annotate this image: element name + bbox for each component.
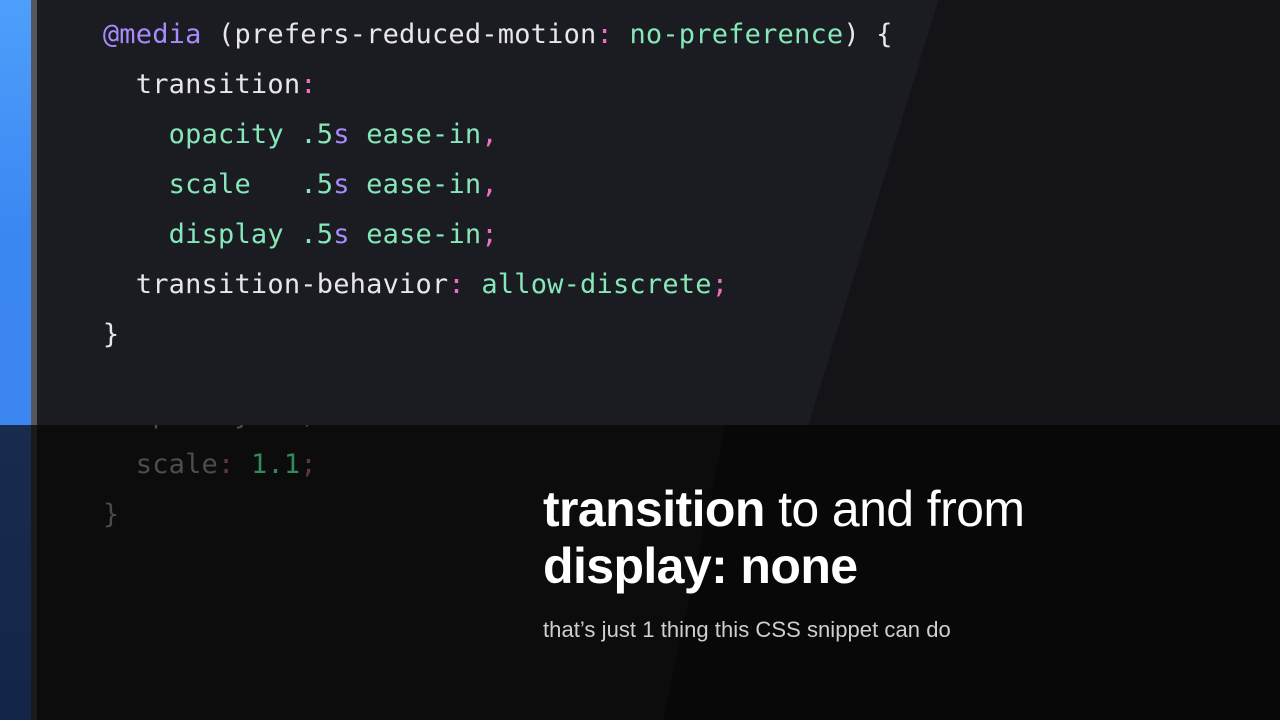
code-token [284,219,300,250]
headline-line1-rest: to and from [765,481,1025,537]
code-token: 1.1 [251,449,300,480]
code-token: .5 [300,169,333,200]
code-token: transition [136,69,301,100]
code-token [37,119,169,150]
code-token: transition-behavior [136,269,449,300]
code-token: s [333,119,349,150]
code-token [267,425,283,430]
code-token: .5 [300,119,333,150]
code-token [37,69,136,100]
code-token [251,169,300,200]
code-line: opacity .5s ease-in, [37,110,893,160]
code-token: ) { [843,19,892,50]
code-token: opacity [136,425,251,430]
code-line: * { [37,0,893,10]
code-token: 0 [284,425,300,430]
code-token: ease-in [366,169,481,200]
code-token: no-preference [629,19,843,50]
code-line: transition-behavior: allow-discrete; [37,260,893,310]
headline-overlay: transition to and from display: none tha… [543,481,1263,643]
slide-canvas: * { @media (prefers-reduced-motion: no-p… [0,0,1280,720]
code-token: } [37,499,119,530]
code-token: ; [481,219,497,250]
headline-keyword: transition [543,481,765,537]
code-token: : [300,69,316,100]
code-token: } [37,319,119,350]
code-token [350,169,366,200]
code-line: } [37,490,383,540]
code-token: s [333,169,349,200]
code-block-bottom: @starting-style { opacity: 0; scale: 1.1… [37,425,383,540]
code-token [37,19,103,50]
code-token: scale [169,169,251,200]
code-token [350,119,366,150]
code-token: : [251,425,267,430]
code-token: s [333,219,349,250]
code-line: scale .5s ease-in, [37,160,893,210]
code-token [37,269,136,300]
code-line: scale: 1.1; [37,440,383,490]
accent-rail-top [0,0,31,425]
headline-subtitle: that’s just 1 thing this CSS snippet can… [543,617,1263,643]
code-token: ease-in [366,119,481,150]
code-token: ease-in [366,219,481,250]
code-token [234,449,250,480]
code-token: scale [136,449,218,480]
code-block-top: * { @media (prefers-reduced-motion: no-p… [37,0,893,360]
code-token: : [448,269,464,300]
code-line: } [37,310,893,360]
code-line: opacity: 0; [37,425,383,440]
code-panel-top: * { @media (prefers-reduced-motion: no-p… [0,0,1280,425]
accent-rail-bottom [0,425,31,720]
code-line: @media (prefers-reduced-motion: no-prefe… [37,10,893,60]
code-token: ; [300,425,316,430]
code-token [37,449,136,480]
code-token [350,219,366,250]
code-token [37,219,169,250]
code-token [37,169,169,200]
code-line: display .5s ease-in; [37,210,893,260]
code-line: transition: [37,60,893,110]
code-token: , [481,119,497,150]
code-token [37,425,136,430]
code-token: (prefers-reduced-motion [202,19,597,50]
code-token: opacity [169,119,284,150]
code-token: ; [300,449,316,480]
headline-line2: display: none [543,538,1263,595]
code-token: : [218,449,234,480]
code-token: ; [712,269,728,300]
headline-title: transition to and from display: none [543,481,1263,595]
code-token: .5 [300,219,333,250]
code-token [465,269,481,300]
code-token: display [169,219,284,250]
code-token: @media [103,19,202,50]
code-token: allow-discrete [481,269,711,300]
code-token [613,19,629,50]
code-token: , [481,169,497,200]
code-token: : [597,19,613,50]
code-token [284,119,300,150]
